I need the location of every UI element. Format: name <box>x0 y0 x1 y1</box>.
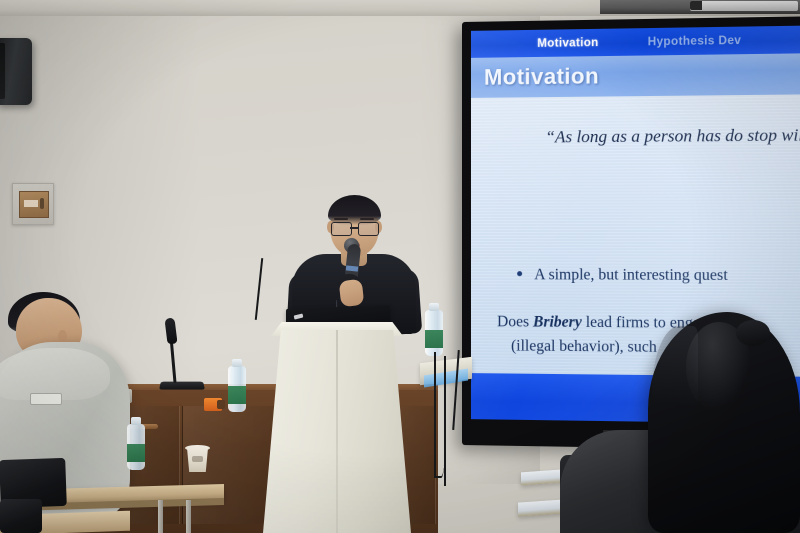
orange-box <box>204 398 222 411</box>
hanging-cable <box>444 356 446 486</box>
slide-quote: “As long as a person has do stop will st… <box>485 122 800 150</box>
presenter-eyebrow-left <box>334 218 348 220</box>
slide-title: Motivation <box>484 63 599 91</box>
slide-tab-hypothesis-development[interactable]: Hypothesis Dev <box>648 34 742 48</box>
hoodie-logo-patch <box>30 393 62 405</box>
presenter-eyebrow-right <box>360 218 374 220</box>
desk-leg <box>186 500 191 533</box>
lecture-room-photo: Motivation Hypothesis Dev Motivation “As… <box>0 0 800 533</box>
paper-cup-logo-icon <box>192 456 203 462</box>
slide-paragraph-emphasis: Bribery <box>533 313 582 330</box>
bottle-cap <box>232 359 242 367</box>
wall-outlet-pin <box>40 198 44 209</box>
glasses-lens-right <box>358 222 379 236</box>
ceiling-light-end-cap <box>690 1 702 10</box>
slide-paragraph-prefix: Does <box>497 313 533 330</box>
bottle-cap <box>429 303 439 311</box>
slide-nav-bar: Motivation Hypothesis Dev <box>471 26 800 58</box>
wall-speaker-icon <box>0 38 32 105</box>
water-bottle <box>127 424 145 470</box>
water-bottle <box>228 366 246 412</box>
ceiling-light-fixture-icon <box>690 1 798 11</box>
desk-leg <box>158 500 163 533</box>
wall-outlet-inner <box>19 191 49 218</box>
slide-bullet-item: A simple, but interesting quest <box>517 266 728 285</box>
bullet-dot-icon <box>517 271 522 276</box>
lectern-edge <box>336 330 338 533</box>
slide-bullet-text: A simple, but interesting quest <box>534 266 728 285</box>
bottle-cap <box>131 417 141 425</box>
glasses-lens-left <box>331 222 352 236</box>
bottle-label <box>425 330 443 348</box>
slide-tab-motivation[interactable]: Motivation <box>537 36 598 49</box>
gooseneck-microphone-base[interactable] <box>159 382 205 390</box>
laptop-logo-icon <box>294 313 304 319</box>
slide-title-band: Motivation <box>471 53 800 98</box>
wall-speaker-grille <box>0 43 5 99</box>
audience-right-hair-bun <box>736 320 770 346</box>
water-bottle <box>425 310 443 356</box>
wall-outlet-slot <box>24 200 38 207</box>
bottle-label <box>228 386 246 404</box>
presenter-hand <box>339 279 365 307</box>
bottle-label <box>127 444 145 462</box>
glasses-icon <box>330 222 379 235</box>
wall-outlet-plate <box>12 183 54 225</box>
chair[interactable] <box>0 499 42 533</box>
